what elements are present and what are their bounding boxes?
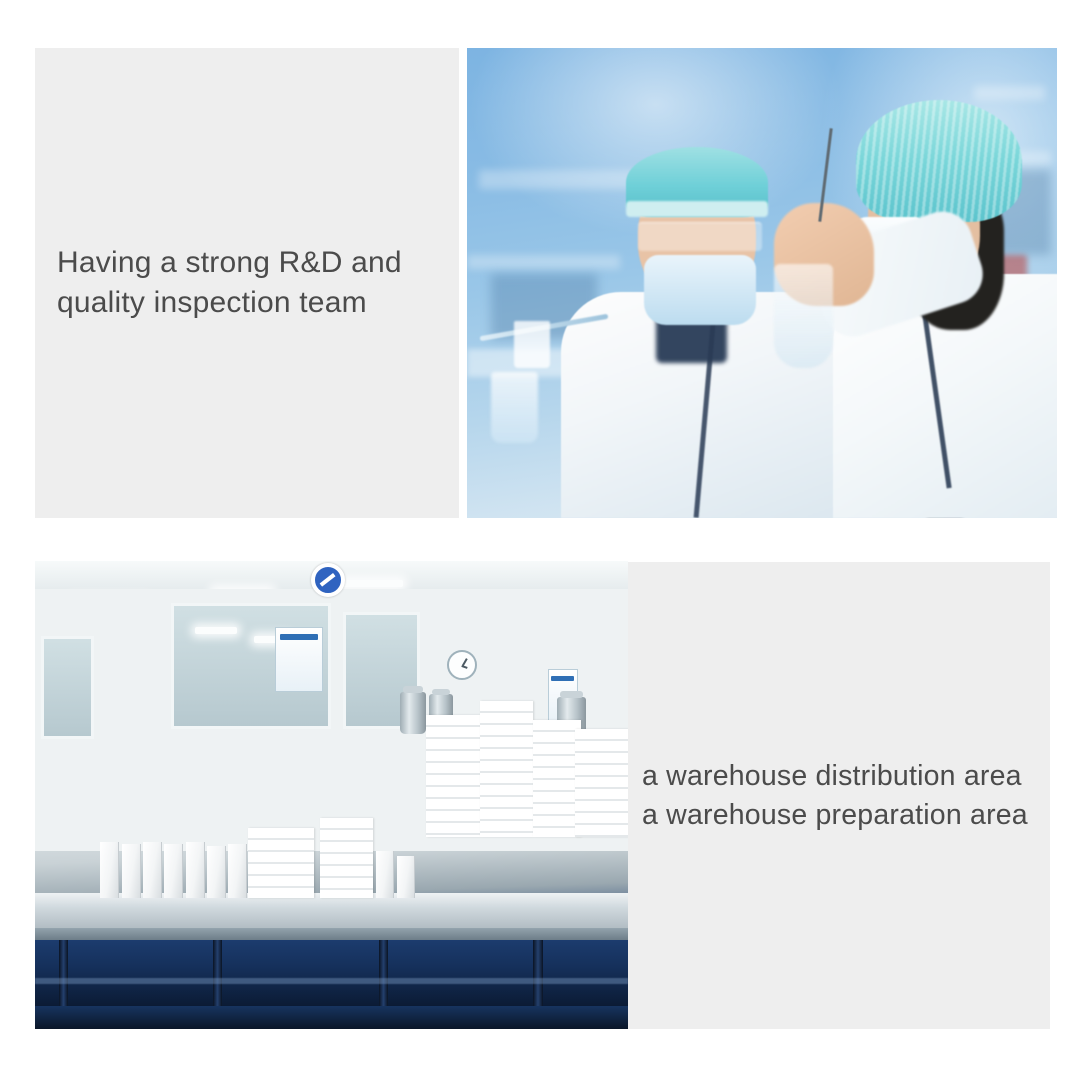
lab-scene [467,48,1057,518]
white-box [100,842,119,898]
white-box [228,844,247,898]
lab-quality-inspection-photo [467,48,1057,518]
box-stack [480,701,533,837]
notice-board-header [551,676,574,681]
lab-beaker [491,372,538,443]
bottom-caption-text: a warehouse distribution area a warehous… [628,757,1038,834]
white-box [164,844,183,898]
white-box [143,842,162,898]
top-caption-panel: Having a strong R&D and quality inspecti… [35,48,459,518]
white-box [376,851,394,898]
packing-table-edge [35,928,628,940]
white-box [122,844,141,898]
lab-flask [774,264,833,367]
wall-notice-board [275,627,322,693]
white-box [397,856,415,898]
steel-canister [400,692,427,734]
lab-worker-left-goggles [638,222,762,251]
box-stack [248,828,313,898]
box-stack [320,818,373,898]
lab-worker-left-face-mask [644,255,756,326]
warehouse-scene [35,561,628,1029]
box-stack [426,715,479,837]
page-root: Having a strong R&D and quality inspecti… [0,0,1080,1080]
white-box [207,846,226,897]
ceiling-light [195,627,237,634]
notice-board-header [280,634,318,640]
blue-circular-sign [311,563,345,597]
lab-reagent-bottle [514,321,549,368]
box-stack [533,720,580,837]
bottom-caption-panel: a warehouse distribution area a warehous… [628,562,1050,1029]
box-stack [575,729,628,837]
lab-shelf-edge [974,86,1045,100]
warehouse-packaging-photo [35,561,628,1029]
wall-clock [447,650,477,680]
glass-partition-window [41,636,94,739]
warehouse-floor [35,1006,628,1029]
top-caption-text: Having a strong R&D and quality inspecti… [35,243,412,322]
lab-worker-left-hairnet-band [626,201,768,217]
packing-table-top [35,893,628,930]
lab-shelf-edge [467,255,620,269]
table-crossbar [35,978,628,985]
white-box [186,842,205,898]
lab-worker-right-hairnet [856,100,1021,222]
